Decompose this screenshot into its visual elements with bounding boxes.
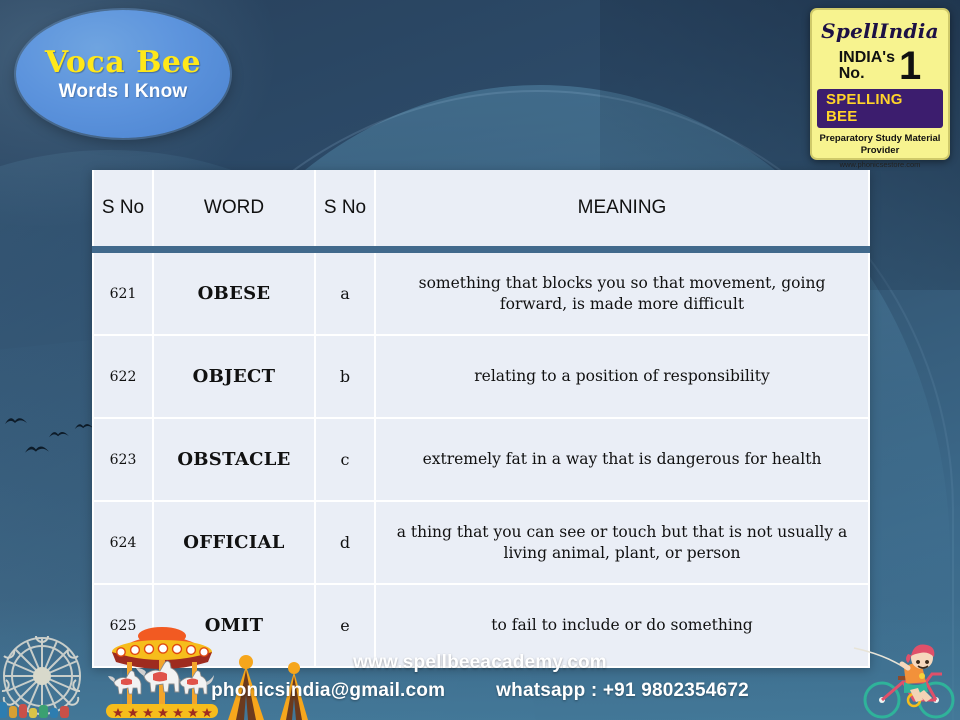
cell-key: c [315,418,375,501]
column-header-word: WORD [153,170,315,250]
cell-key: b [315,335,375,418]
words-table: S No WORD S No MEANING 621 OBESE a somet… [92,170,870,668]
cell-sno: 621 [93,250,153,336]
spellindia-badge: SpellIndia INDIA's No. 1 SPELLING BEE Pr… [810,8,950,160]
footer-website[interactable]: www.spellbeeacademy.com [0,652,960,674]
badge-indias-text: INDIA's [839,50,895,66]
badge-no-text: No. [839,66,895,82]
cell-meaning: something that blocks you so that moveme… [375,250,869,336]
footer-contact: www.spellbeeacademy.com phonicsindia@gma… [0,652,960,702]
badge-brand-name: SpellIndia [821,19,939,43]
badge-rank-label: INDIA's No. [839,50,895,83]
cell-meaning: extremely fat in a way that is dangerous… [375,418,869,501]
cell-meaning: relating to a position of responsibility [375,335,869,418]
footer-whatsapp[interactable]: whatsapp : +91 9802354672 [496,680,749,701]
column-header-sno-right: S No [315,170,375,250]
table-row: 623 OBSTACLE c extremely fat in a way th… [93,418,869,501]
badge-rank-number: 1 [899,48,921,84]
badge-spelling-bee-banner: SPELLING BEE [817,89,943,128]
badge-rank-row: INDIA's No. 1 [817,48,943,84]
column-header-meaning: MEANING [375,170,869,250]
table-header-row: S No WORD S No MEANING [93,170,869,250]
footer-email[interactable]: phonicsindia@gmail.com [211,680,445,701]
cell-key: d [315,501,375,584]
cell-word: OFFICIAL [153,501,315,584]
table-header: S No WORD S No MEANING [93,170,869,250]
column-header-sno-left: S No [93,170,153,250]
footer-contact-line: phonicsindia@gmail.com whatsapp : +91 98… [0,680,960,702]
cell-key: a [315,250,375,336]
table-row: 621 OBESE a something that blocks you so… [93,250,869,336]
cell-word: OBJECT [153,335,315,418]
bird-icon [24,444,50,455]
bird-icon [48,430,70,439]
table-body: 621 OBESE a something that blocks you so… [93,250,869,668]
cell-sno: 623 [93,418,153,501]
cell-word: OBESE [153,250,315,336]
badge-url: www.phonicsestore.com [840,160,921,169]
slide-canvas: Voca Bee Words I Know SpellIndia INDIA's… [0,0,960,720]
table-row: 622 OBJECT b relating to a position of r… [93,335,869,418]
cell-meaning: a thing that you can see or touch but th… [375,501,869,584]
cell-sno: 622 [93,335,153,418]
cell-sno: 624 [93,501,153,584]
voca-bee-logo: Voca Bee Words I Know [16,10,230,138]
bird-icon [74,422,94,431]
bird-icon [4,416,28,426]
logo-title: Voca Bee [45,48,201,78]
table-row: 624 OFFICIAL d a thing that you can see … [93,501,869,584]
logo-subtitle: Words I Know [59,82,188,101]
badge-tagline: Preparatory Study Material Provider [817,133,943,157]
cell-word: OBSTACLE [153,418,315,501]
